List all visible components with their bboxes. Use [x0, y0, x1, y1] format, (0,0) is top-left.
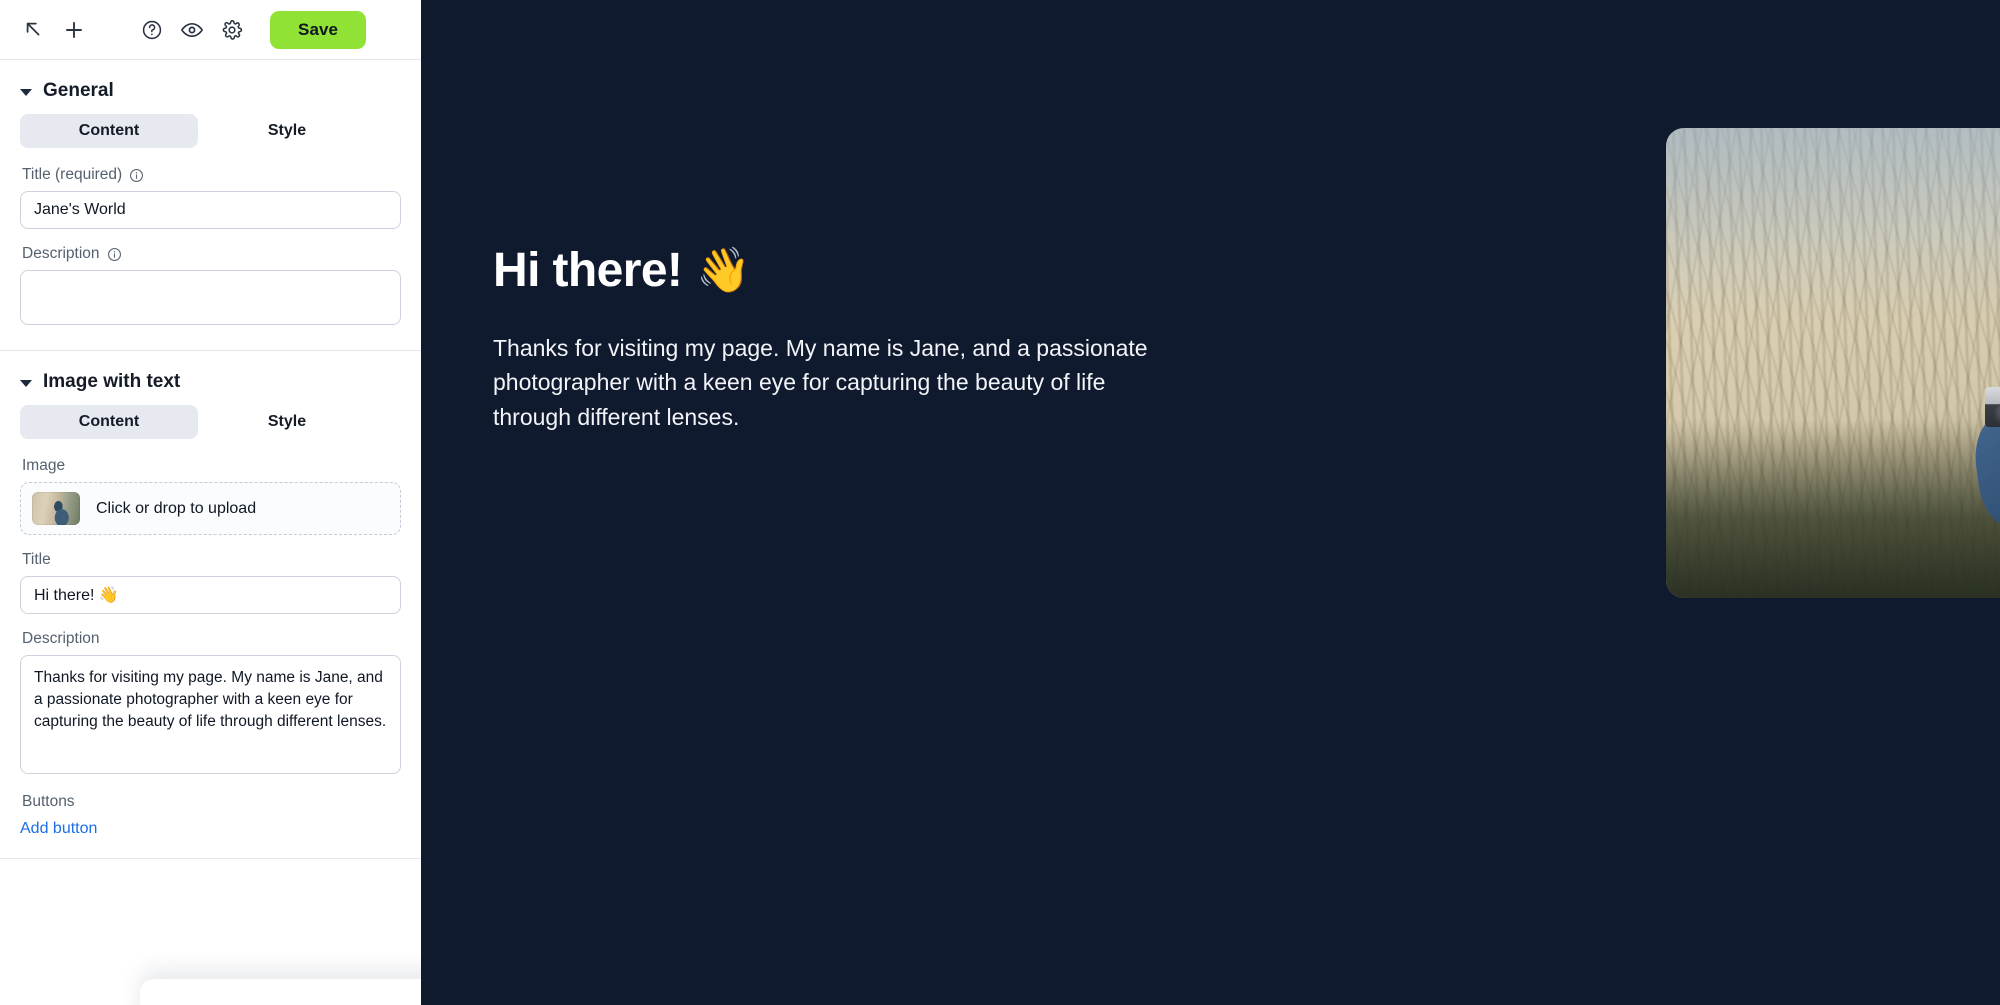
- hero-heading-text: Hi there!: [493, 245, 682, 297]
- image-field-label-text: Image: [22, 457, 65, 475]
- help-circle-icon[interactable]: [132, 10, 172, 50]
- image-dropzone[interactable]: Click or drop to upload: [20, 482, 401, 535]
- image-field-label: Image: [22, 457, 401, 475]
- tab-image-style[interactable]: Style: [198, 405, 376, 439]
- add-button-link[interactable]: Add button: [20, 820, 97, 838]
- general-description-textarea[interactable]: [20, 270, 401, 325]
- image-with-text-tabs: Content Style: [20, 405, 401, 439]
- panel-bottom-sheet: [140, 979, 421, 1005]
- buttons-label: Buttons: [22, 793, 401, 811]
- editor-sidebar: Save General Content Style Title (requir…: [0, 0, 421, 1005]
- general-title-input[interactable]: [20, 191, 401, 229]
- section-general-header[interactable]: General: [20, 80, 401, 102]
- tab-image-content[interactable]: Content: [20, 405, 198, 439]
- cursor-arrow-icon[interactable]: [14, 10, 54, 50]
- eye-icon[interactable]: [172, 10, 212, 50]
- tab-general-content[interactable]: Content: [20, 114, 198, 148]
- hero-photo: [1666, 128, 2000, 598]
- sidebar-toolbar: Save: [0, 0, 421, 60]
- dropzone-label: Click or drop to upload: [96, 500, 256, 518]
- image-description-textarea[interactable]: [20, 655, 401, 774]
- section-image-with-text-header[interactable]: Image with text: [20, 371, 401, 393]
- section-general: General Content Style Title (required): [0, 60, 421, 351]
- plus-icon[interactable]: [54, 10, 94, 50]
- image-title-label-text: Title: [22, 551, 51, 569]
- general-description-label-text: Description: [22, 245, 100, 263]
- editor-app: Save General Content Style Title (requir…: [0, 0, 2000, 1005]
- image-description-label-text: Description: [22, 630, 100, 648]
- gear-icon[interactable]: [212, 10, 252, 50]
- image-title-label: Title: [22, 551, 401, 569]
- general-tabs: Content Style: [20, 114, 401, 148]
- photo-arm: [1970, 409, 2000, 529]
- tab-general-style[interactable]: Style: [198, 114, 376, 148]
- chevron-down-icon: [20, 380, 32, 387]
- section-general-title: General: [43, 80, 114, 102]
- general-description-label: Description: [22, 245, 401, 263]
- page-preview: Hi there! 👋 Thanks for visiting my page.…: [421, 0, 2000, 1005]
- info-icon[interactable]: [107, 247, 122, 262]
- chevron-down-icon: [20, 89, 32, 96]
- photo-photographer: [1915, 269, 2000, 598]
- save-button[interactable]: Save: [270, 11, 366, 49]
- section-image-with-text: Image with text Content Style Image Clic…: [0, 351, 421, 859]
- section-image-with-text-title: Image with text: [43, 371, 180, 393]
- hero-text-block: Hi there! 👋 Thanks for visiting my page.…: [493, 245, 1183, 434]
- sidebar-panels: General Content Style Title (required): [0, 60, 421, 1005]
- image-description-label: Description: [22, 630, 401, 648]
- image-title-input[interactable]: [20, 576, 401, 614]
- buttons-label-text: Buttons: [22, 793, 75, 811]
- general-title-label: Title (required): [22, 166, 401, 184]
- image-thumbnail: [32, 492, 80, 525]
- info-icon[interactable]: [129, 168, 144, 183]
- waving-hand-icon: 👋: [696, 249, 750, 293]
- general-title-label-text: Title (required): [22, 166, 122, 184]
- hero-heading: Hi there! 👋: [493, 245, 1183, 297]
- hero-body-text: Thanks for visiting my page. My name is …: [493, 331, 1183, 435]
